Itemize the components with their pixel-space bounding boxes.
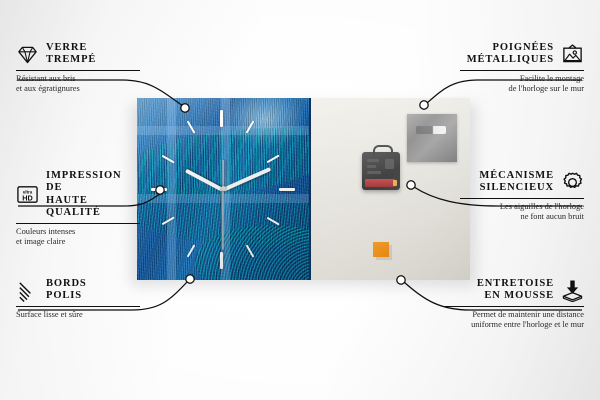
feature-rule (16, 70, 140, 71)
feature-desc: Les aiguilles de l'horloge ne font aucun… (460, 202, 584, 222)
feature-desc: Couleurs intenses et image claire (16, 227, 140, 247)
feature-rule (16, 306, 140, 307)
feature-impression-haute-qualite[interactable]: ultra HD IMPRESSION DE HAUTE QUALITÉ Cou… (16, 170, 140, 247)
mech-detail-2 (367, 165, 376, 168)
polished-edges-icon (16, 279, 39, 302)
gear-icon (561, 171, 584, 194)
feature-title: POIGNÉES MÉTALLIQUES (467, 42, 554, 67)
feature-header: BORDS POLIS (16, 278, 140, 303)
feature-rule (16, 223, 140, 224)
metal-hanger-plate (407, 114, 457, 162)
feature-title: ENTRETOISE EN MOUSSE (477, 278, 554, 303)
product-image (137, 98, 470, 280)
clock-back-panel (311, 98, 470, 280)
press-down-arrow-icon (561, 279, 584, 302)
feature-desc: Permet de maintenir une distance uniform… (442, 310, 584, 330)
mech-detail-4 (385, 159, 394, 169)
aa-battery (365, 179, 395, 187)
quartz-mechanism-box (362, 152, 400, 190)
diamond-icon (16, 43, 39, 66)
feature-header: POIGNÉES MÉTALLIQUES (460, 42, 584, 67)
feature-title: MÉCANISME SILENCIEUX (479, 170, 554, 195)
feature-rule (460, 70, 584, 71)
wall-mount-frame-icon (561, 43, 584, 66)
ultra-hd-badge-icon: ultra HD (16, 183, 39, 206)
feature-title: BORDS POLIS (46, 278, 87, 303)
svg-text:HD: HD (22, 194, 33, 203)
feature-header: ENTRETOISE EN MOUSSE (442, 278, 584, 303)
feature-desc: Surface lisse et sûre (16, 310, 140, 320)
feature-desc: Résistant aux bris et aux égratignures (16, 74, 140, 94)
feature-entretoise-en-mousse[interactable]: ENTRETOISE EN MOUSSE Permet de maintenir… (442, 278, 584, 331)
mech-detail-3 (367, 171, 381, 174)
feature-header: VERRE TREMPÉ (16, 42, 140, 67)
feature-title: VERRE TREMPÉ (46, 42, 96, 67)
feature-rule (442, 306, 584, 307)
mech-detail-1 (367, 159, 379, 162)
clock-face-panel (137, 98, 311, 280)
feature-header: ultra HD IMPRESSION DE HAUTE QUALITÉ (16, 170, 140, 220)
feature-header: MÉCANISME SILENCIEUX (460, 170, 584, 195)
feature-bords-polis[interactable]: BORDS POLIS Surface lisse et sûre (16, 278, 140, 320)
foam-spacer (373, 242, 389, 257)
infographic-canvas: VERRE TREMPÉ Résistant aux bris et aux é… (0, 0, 600, 400)
hanger-slot (416, 126, 446, 134)
feature-verre-trempe[interactable]: VERRE TREMPÉ Résistant aux bris et aux é… (16, 42, 140, 95)
feature-desc: Facilite le montage de l'horloge sur le … (460, 74, 584, 94)
glass-sheen (137, 98, 309, 280)
feature-rule (460, 198, 584, 199)
feature-mecanisme-silencieux[interactable]: MÉCANISME SILENCIEUX Les aiguilles de l'… (460, 170, 584, 223)
hanging-loop (373, 145, 393, 156)
feature-poignees-metalliques[interactable]: POIGNÉES MÉTALLIQUES Facilite le montage… (460, 42, 584, 95)
feature-title: IMPRESSION DE HAUTE QUALITÉ (46, 170, 140, 220)
